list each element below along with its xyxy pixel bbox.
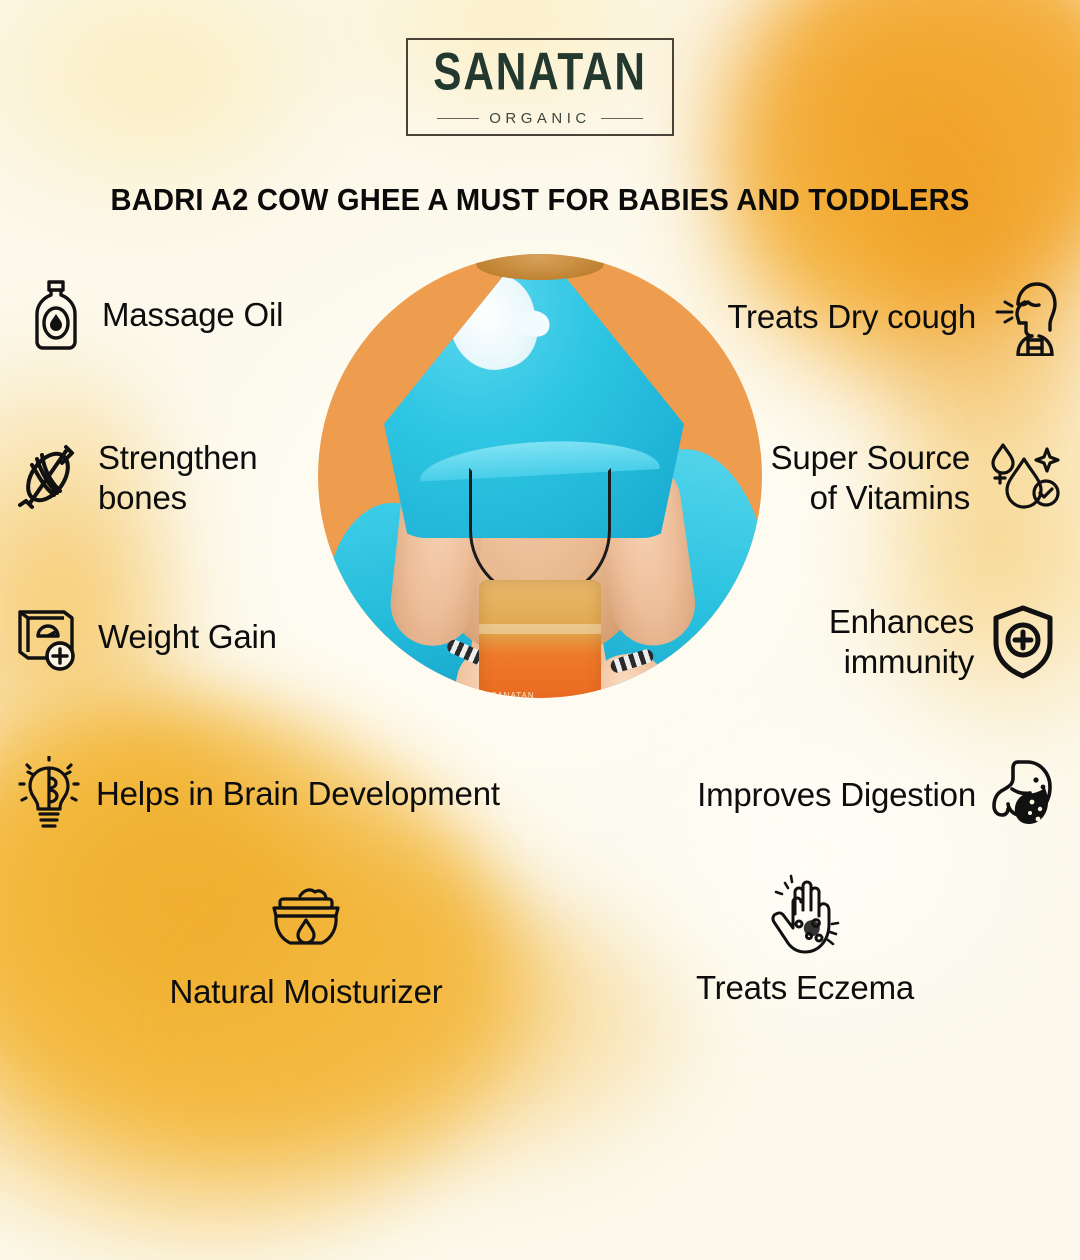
- bone-icon: [16, 443, 82, 513]
- logo-rule-right: [601, 118, 643, 119]
- feature-label: Massage Oil: [102, 295, 283, 335]
- feature-strengthen-bones: Strengthen bones: [16, 438, 257, 519]
- weight-scale-plus-icon: [14, 602, 82, 672]
- brand-tagline: ORGANIC: [489, 110, 591, 127]
- feature-treats-eczema: Treats Eczema: [650, 874, 960, 1008]
- logo-rule-left: [437, 118, 479, 119]
- feature-label: Natural Moisturizer: [169, 972, 442, 1012]
- brand-logo: SANATAN ORGANIC: [406, 38, 674, 136]
- feature-enhances-immunity: Enhances immunity: [829, 602, 1056, 683]
- hand-rash-icon: [762, 874, 848, 958]
- brand-name: SANATAN: [433, 44, 646, 97]
- feature-label: Improves Digestion: [697, 775, 976, 815]
- feature-label: Treats Dry cough: [727, 297, 976, 337]
- cream-jar-icon: [260, 884, 352, 962]
- towel-applique-icon: [440, 265, 547, 379]
- feature-natural-moisturizer: Natural Moisturizer: [148, 884, 464, 1012]
- feature-massage-oil: Massage Oil: [26, 278, 283, 352]
- feature-label: Strengthen bones: [98, 438, 257, 519]
- jar-label: SANATAN: [491, 691, 535, 698]
- feature-brain-development: Helps in Brain Development: [18, 756, 500, 832]
- feature-label: Enhances immunity: [829, 602, 974, 683]
- feature-label: Treats Eczema: [696, 968, 914, 1008]
- feature-label: Weight Gain: [98, 617, 277, 657]
- oil-bottle-icon: [26, 278, 86, 352]
- shield-plus-icon: [990, 604, 1056, 680]
- ghee-jar-lid: [476, 254, 604, 280]
- stomach-icon: [992, 758, 1056, 832]
- photo-clip: SANATAN: [318, 254, 762, 698]
- feature-improves-digestion: Improves Digestion: [697, 758, 1056, 832]
- feature-super-source-vitamins: Super Source of Vitamins: [771, 438, 1060, 519]
- lightbulb-brain-icon: [18, 756, 80, 832]
- jar-band: [479, 624, 601, 634]
- center-product-photo: SANATAN: [318, 254, 762, 698]
- feature-weight-gain: Weight Gain: [14, 602, 277, 672]
- feature-label: Super Source of Vitamins: [771, 438, 970, 519]
- feature-treats-dry-cough: Treats Dry cough: [727, 278, 1058, 356]
- coughing-person-icon: [992, 278, 1058, 356]
- vitamin-droplets-icon: [986, 439, 1060, 517]
- page-headline: BADRI A2 COW GHEE A MUST FOR BABIES AND …: [32, 182, 1047, 218]
- brand-tagline-row: ORGANIC: [437, 110, 643, 127]
- feature-label: Helps in Brain Development: [96, 774, 500, 814]
- ghee-jar: SANATAN: [479, 580, 601, 698]
